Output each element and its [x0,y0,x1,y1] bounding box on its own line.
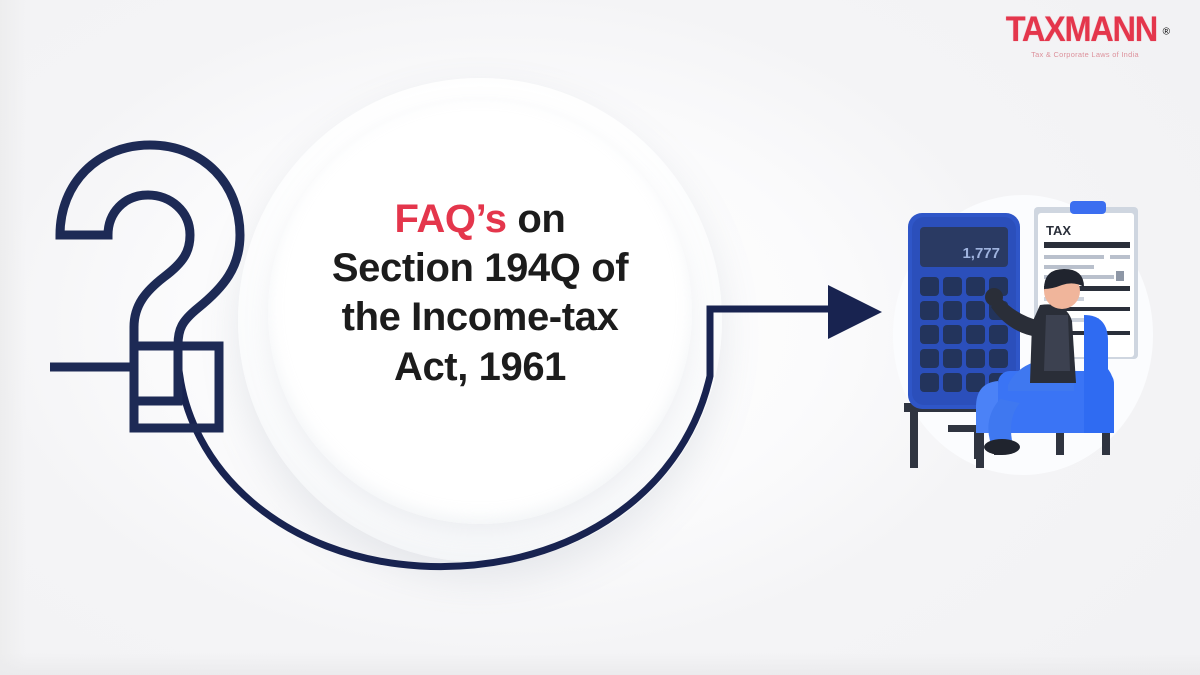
background-bottom-edge-shade [0,653,1200,675]
calculator-key[interactable] [920,301,939,320]
chair-leg-right [1102,433,1110,455]
tax-illustration: TAX 1,777 [888,185,1158,475]
background-left-edge-shade [0,0,26,675]
calculator-key[interactable] [943,373,962,392]
headline-line-4: Act, 1961 [268,343,692,392]
headline-line-2: Section 194Q of [268,244,692,293]
calculator-key[interactable] [989,349,1008,368]
taxmann-logo: TAXMANN® Tax & Corporate Laws of India [1000,12,1170,58]
document-line-3 [1044,265,1094,269]
headline-line-3: the Income-tax [268,293,692,342]
person-shirt [1044,315,1070,371]
calculator-key[interactable] [966,325,985,344]
table-leg-left [910,412,918,468]
calculator-key[interactable] [943,301,962,320]
headline-highlight: FAQ’s [395,197,507,241]
calculator-display: 1,777 [962,245,1000,262]
headline-line-1: FAQ’s on [268,195,692,244]
clipboard-clip-icon [1070,201,1106,214]
registered-trademark-icon: ® [1163,27,1170,38]
logo-tagline: Tax & Corporate Laws of India [1000,51,1170,58]
document-line-1 [1044,255,1104,259]
question-mark-overlay [38,105,298,445]
calculator-key[interactable] [920,349,939,368]
chair-leg-mid [1056,433,1064,455]
calculator-key[interactable] [966,349,985,368]
calculator-key[interactable] [920,373,939,392]
document-title: TAX [1046,223,1071,238]
calculator-key[interactable] [989,325,1008,344]
calculator-key[interactable] [943,349,962,368]
document-rule-1 [1044,242,1130,248]
calculator-key[interactable] [920,277,939,296]
person-hand [985,288,1003,306]
calculator-key[interactable] [920,325,939,344]
page-title: FAQ’s on Section 194Q of the Income-tax … [268,195,692,392]
document-line-2 [1110,255,1130,259]
person-shoe [984,439,1020,455]
headline-line-1-rest: on [507,197,566,241]
calculator-key[interactable] [943,277,962,296]
calculator-key[interactable] [943,325,962,344]
arrow-head-icon [828,285,882,339]
calculator-key[interactable] [966,301,985,320]
calculator-key[interactable] [966,277,985,296]
logo-wordmark: TAXMANN [1006,12,1157,47]
document-mark [1116,271,1124,281]
